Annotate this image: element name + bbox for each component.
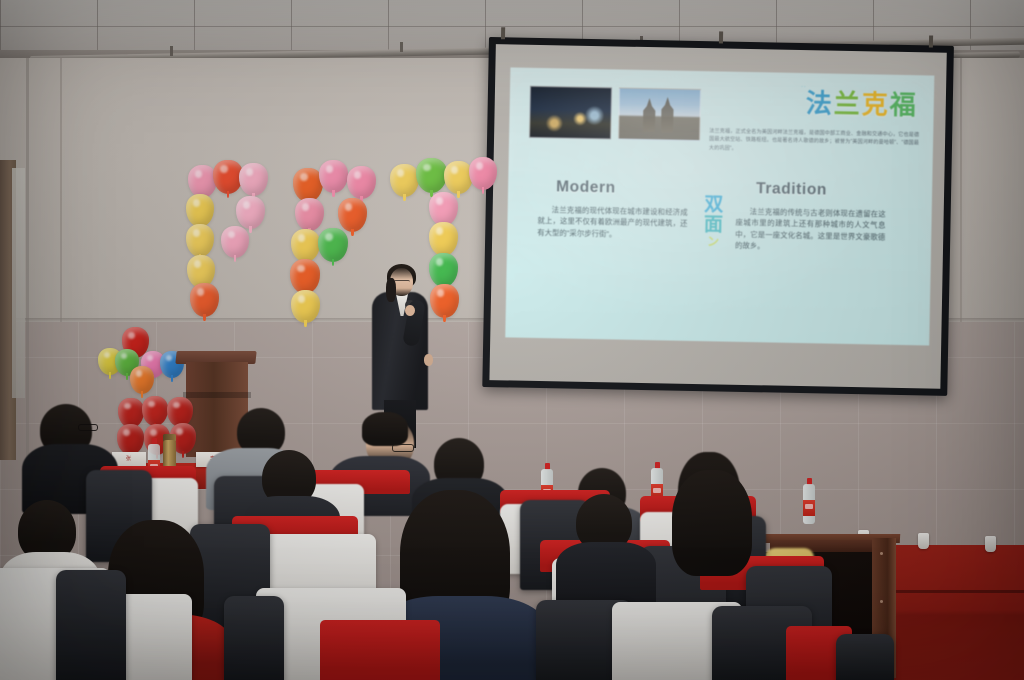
night-cityscape-photo — [529, 86, 612, 140]
slide-photo-row — [529, 86, 701, 141]
wall-vertical-seam — [960, 58, 962, 322]
screen-mount — [719, 31, 723, 43]
glasses-icon — [394, 280, 410, 284]
slide-vertical-word: 双 面 ン — [700, 195, 727, 248]
slide-intro-text: 法兰克福，正式全名为美因河畔法兰克福，是德国中部工商业、金融和交通中心，它也是德… — [709, 127, 919, 156]
title-char-2: 兰 — [833, 89, 862, 120]
vertical-char-1: 双 — [701, 195, 727, 215]
water-bottle — [803, 478, 815, 524]
desk-screw — [880, 552, 883, 555]
red-panel-seam — [894, 590, 1024, 593]
desk-screw — [880, 600, 883, 603]
presenter-hand — [405, 305, 415, 316]
slide-title: 法兰克福 — [805, 83, 918, 122]
vertical-char-2: 面 — [700, 215, 726, 235]
projection-screen: ·· 法兰克福 法兰克福，正式全名为美因河畔法兰克福，是德国中部工商业、金融和交… — [482, 37, 954, 396]
seat-headrest[interactable] — [836, 634, 894, 680]
screen-mount — [501, 27, 505, 39]
wall-clip — [985, 536, 996, 552]
title-char-4: 福 — [889, 90, 918, 121]
pipe-hanger — [400, 42, 403, 52]
screen-mount — [929, 35, 933, 47]
glasses-icon — [392, 444, 414, 452]
glasses-icon — [78, 424, 98, 431]
slide-body-tradition: 法兰克福的传统与古老则体现在遗留在这座城市里的建筑上还有那种城市的人文气息中，它… — [735, 206, 886, 254]
slide-body-modern: 法兰克福的现代体现在城市建设和经济成就上，这里不仅有着欧洲最产的现代建筑，还有大… — [537, 204, 688, 241]
audience-hair — [362, 412, 408, 446]
vertical-char-accent: ン — [700, 235, 726, 248]
column-edge — [26, 58, 29, 458]
seat-headrest[interactable] — [56, 570, 126, 680]
presentation-slide: ·· 法兰克福 法兰克福，正式全名为美因河畔法兰克福，是德国中部工商业、金融和交… — [505, 67, 934, 345]
cathedral-photo — [618, 88, 701, 142]
pipe-hanger — [170, 46, 173, 56]
seat-headrest[interactable] — [224, 596, 284, 680]
wall-clip — [918, 533, 929, 549]
slide-heading-modern: Modern — [556, 178, 616, 197]
title-char-3: 克 — [861, 89, 890, 120]
audience-body — [556, 542, 656, 606]
bottle-label — [803, 500, 815, 516]
stage-red-panel — [894, 545, 1024, 680]
podium-shelf — [183, 392, 251, 398]
wall-vertical-seam — [60, 58, 62, 322]
doorway — [12, 168, 25, 398]
audience-hair — [672, 470, 752, 576]
seat-cushion[interactable] — [320, 620, 440, 680]
presenter-hand-lower — [424, 354, 433, 366]
title-char-1: 法 — [805, 88, 834, 119]
lecture-hall-scene: ·· 法兰克福 法兰克福，正式全名为美因河畔法兰克福，是德国中部工商业、金融和交… — [0, 0, 1024, 680]
slide-heading-tradition: Tradition — [756, 180, 827, 199]
